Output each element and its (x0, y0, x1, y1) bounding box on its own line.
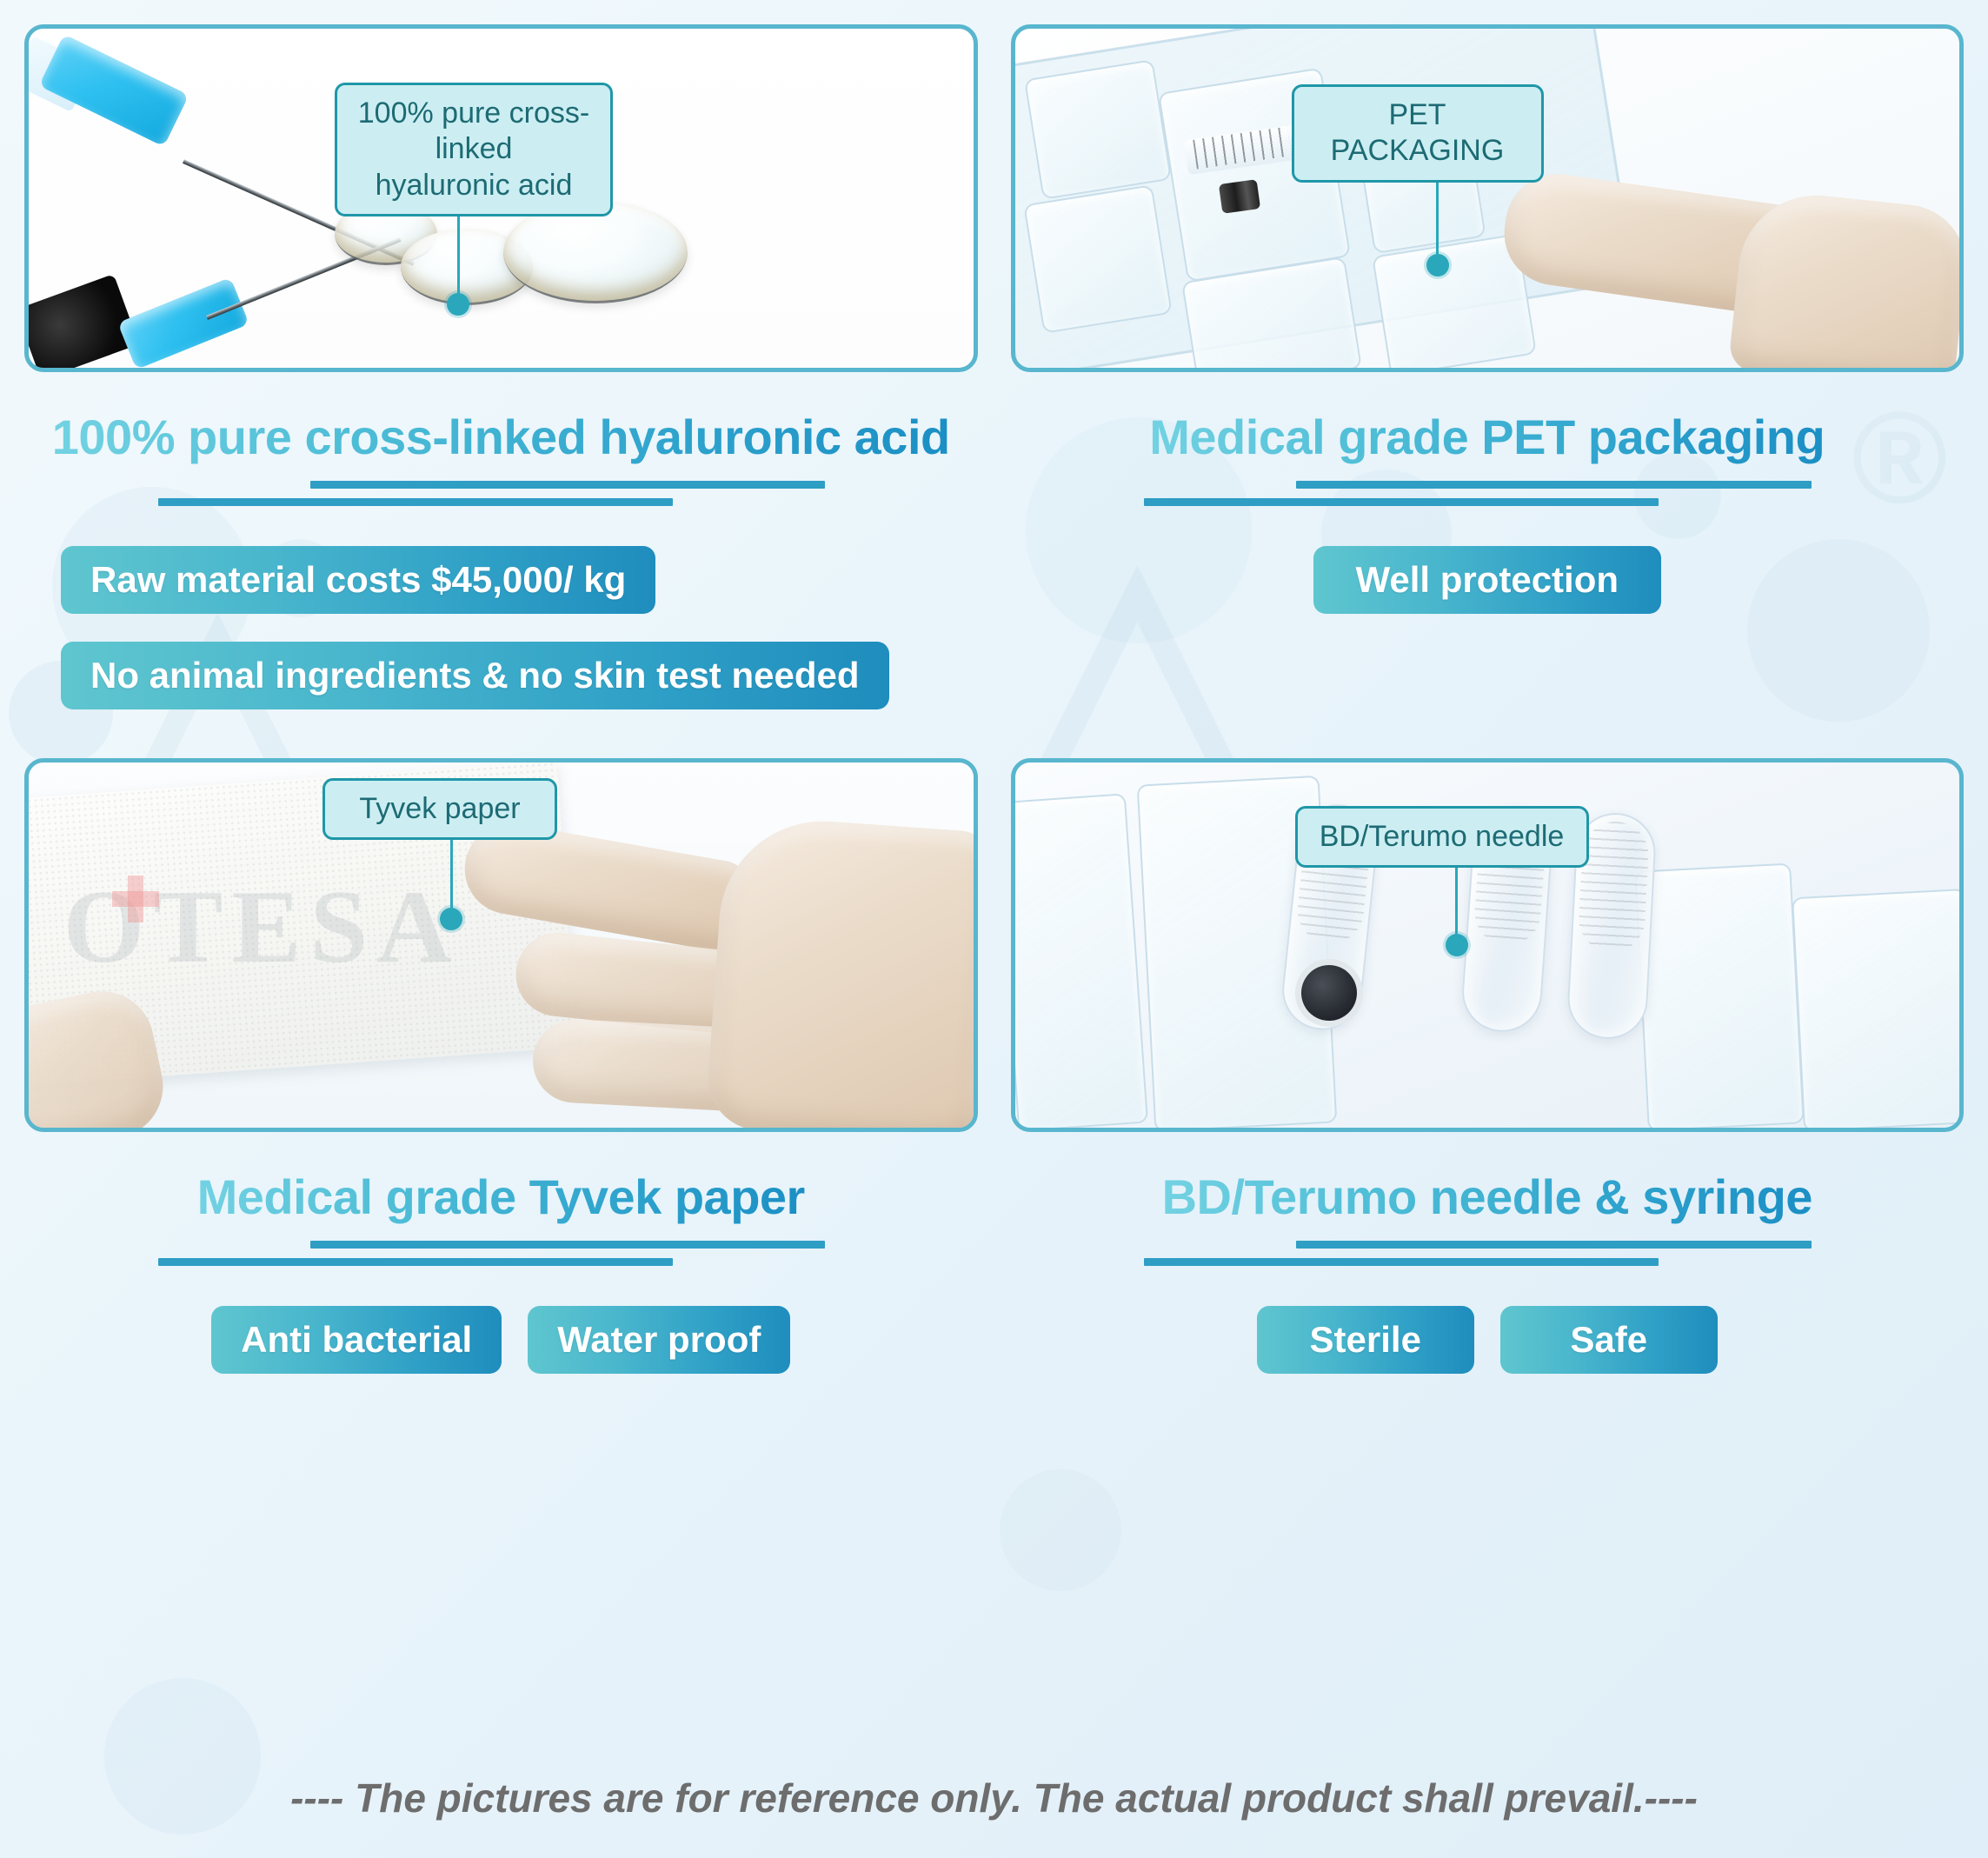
callout-anchor-dot (440, 908, 462, 930)
badge-anti-bacterial[interactable]: Anti bacterial (211, 1306, 502, 1374)
badge-list-bd-terumo-needle: Sterile Safe (1011, 1306, 1965, 1374)
badge-well-protection[interactable]: Well protection (1313, 546, 1661, 614)
callout-connector-line (450, 840, 453, 911)
feature-grid: 100% pure cross-linked hyaluronic acid 1… (0, 0, 1988, 1374)
section-title-tyvek-paper: Medical grade Tyvek paper (197, 1169, 805, 1225)
section-title-hyaluronic-acid: 100% pure cross-linked hyaluronic acid (52, 409, 950, 465)
title-underline (24, 481, 978, 506)
callout-label: 100% pure cross-linked hyaluronic acid (335, 83, 613, 216)
feature-cell-pet-packaging: PET PACKAGING Medical grade PET packagin… (1011, 24, 1965, 709)
callout-connector-line (457, 216, 460, 296)
badge-list-tyvek-paper: Anti bacterial Water proof (24, 1306, 978, 1374)
badge-safe[interactable]: Safe (1500, 1306, 1718, 1374)
callout-anchor-dot (447, 293, 469, 316)
needle-vial-cap-icon (1295, 959, 1363, 1027)
feature-cell-hyaluronic-acid: 100% pure cross-linked hyaluronic acid 1… (24, 24, 978, 709)
callout-connector-line (1455, 868, 1458, 937)
disclaimer-note: ---- The pictures are for reference only… (0, 1775, 1988, 1821)
gloved-hand-icon (705, 815, 978, 1132)
section-title-pet-packaging: Medical grade PET packaging (1149, 409, 1825, 465)
callout-bd-terumo-needle: BD/Terumo needle (1295, 806, 1589, 956)
callout-label: Tyvek paper (322, 778, 557, 840)
badge-water-proof[interactable]: Water proof (528, 1306, 790, 1374)
callout-label: PET PACKAGING (1292, 84, 1544, 183)
plunger-icon (1218, 179, 1260, 214)
feature-cell-tyvek-paper: OTESA Tyvek paper Medical grade Tyvek pa… (24, 758, 978, 1374)
badge-sterile[interactable]: Sterile (1257, 1306, 1474, 1374)
callout-anchor-dot (1446, 934, 1468, 956)
needle-hub-icon (39, 34, 189, 146)
gloved-hand-icon (1727, 188, 1964, 372)
callout-anchor-dot (1426, 254, 1449, 276)
callout-label: BD/Terumo needle (1295, 806, 1589, 868)
photo-card-hyaluronic-acid: 100% pure cross-linked hyaluronic acid (24, 24, 978, 372)
feature-cell-bd-terumo-needle: BD/Terumo needle BD/Terumo needle & syri… (1011, 758, 1965, 1374)
callout-hyaluronic-acid: 100% pure cross-linked hyaluronic acid (335, 83, 613, 316)
photo-card-bd-terumo-needle: BD/Terumo needle (1011, 758, 1965, 1132)
title-underline (1011, 1241, 1965, 1266)
photo-card-pet-packaging: PET PACKAGING (1011, 24, 1965, 372)
needle-hub-icon-2 (117, 277, 249, 370)
red-cross-icon (112, 876, 159, 922)
badge-no-animal-ingredients[interactable]: No animal ingredients & no skin test nee… (61, 642, 889, 709)
callout-connector-line (1436, 183, 1439, 257)
badge-list-pet-packaging: Well protection (1011, 546, 1965, 614)
photo-card-tyvek-paper: OTESA Tyvek paper (24, 758, 978, 1132)
section-title-bd-terumo-needle: BD/Terumo needle & syringe (1162, 1169, 1812, 1225)
callout-tyvek-paper: Tyvek paper (322, 778, 557, 930)
badge-raw-material-cost[interactable]: Raw material costs $45,000/ kg (61, 546, 655, 614)
title-underline (1011, 481, 1965, 506)
title-underline (24, 1241, 978, 1266)
callout-pet-packaging: PET PACKAGING (1292, 84, 1544, 276)
badge-list-hyaluronic-acid: Raw material costs $45,000/ kg No animal… (24, 546, 978, 709)
